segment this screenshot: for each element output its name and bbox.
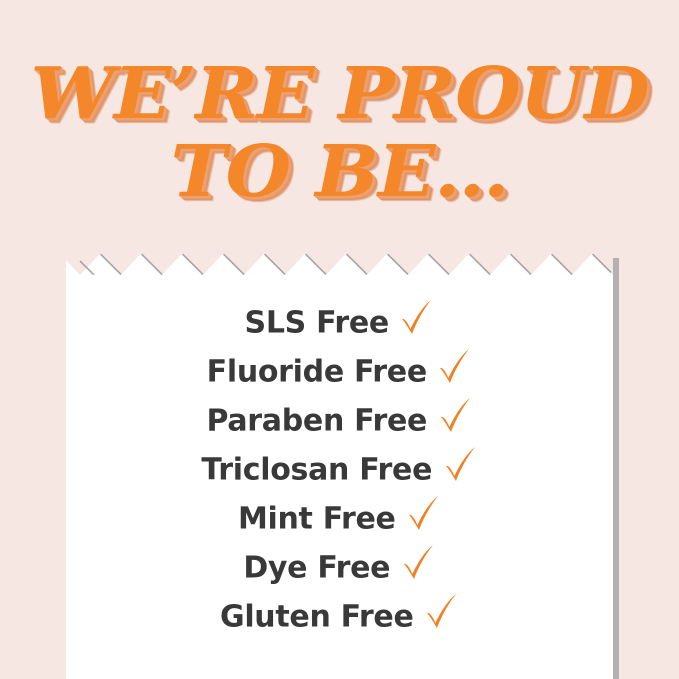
- checkmark-icon: [444, 446, 478, 484]
- claim-label: Paraben Free: [206, 403, 427, 438]
- claims-list: SLS Free Fluoride Free Paraben Free: [66, 298, 613, 641]
- page-title: WE’RE PROUD TO BE…: [0, 58, 679, 207]
- list-item: Fluoride Free: [66, 347, 613, 396]
- list-item: Dye Free: [66, 543, 613, 592]
- claim-label: SLS Free: [245, 305, 389, 340]
- list-item: Paraben Free: [66, 396, 613, 445]
- checkmark-icon: [439, 397, 473, 435]
- claim-label: Gluten Free: [220, 599, 414, 634]
- zigzag-icon: [66, 249, 613, 275]
- list-item: Gluten Free: [66, 592, 613, 641]
- torn-edge-zigzag: [66, 249, 613, 275]
- claim-label: Fluoride Free: [207, 354, 427, 389]
- list-item: SLS Free: [66, 298, 613, 347]
- claim-label: Dye Free: [243, 550, 390, 585]
- claim-label: Triclosan Free: [201, 452, 432, 487]
- claim-label: Mint Free: [238, 501, 396, 536]
- checkmark-icon: [425, 593, 459, 631]
- checkmark-icon: [407, 495, 441, 533]
- poster-canvas: WE’RE PROUD TO BE…: [0, 0, 679, 679]
- list-item: Triclosan Free: [66, 445, 613, 494]
- checkmark-icon: [438, 348, 472, 386]
- list-item: Mint Free: [66, 494, 613, 543]
- checkmark-icon: [400, 299, 434, 337]
- headline-line-2: TO BE…: [0, 136, 679, 207]
- headline-line-1: WE’RE PROUD: [0, 58, 679, 129]
- checkmark-icon: [402, 544, 436, 582]
